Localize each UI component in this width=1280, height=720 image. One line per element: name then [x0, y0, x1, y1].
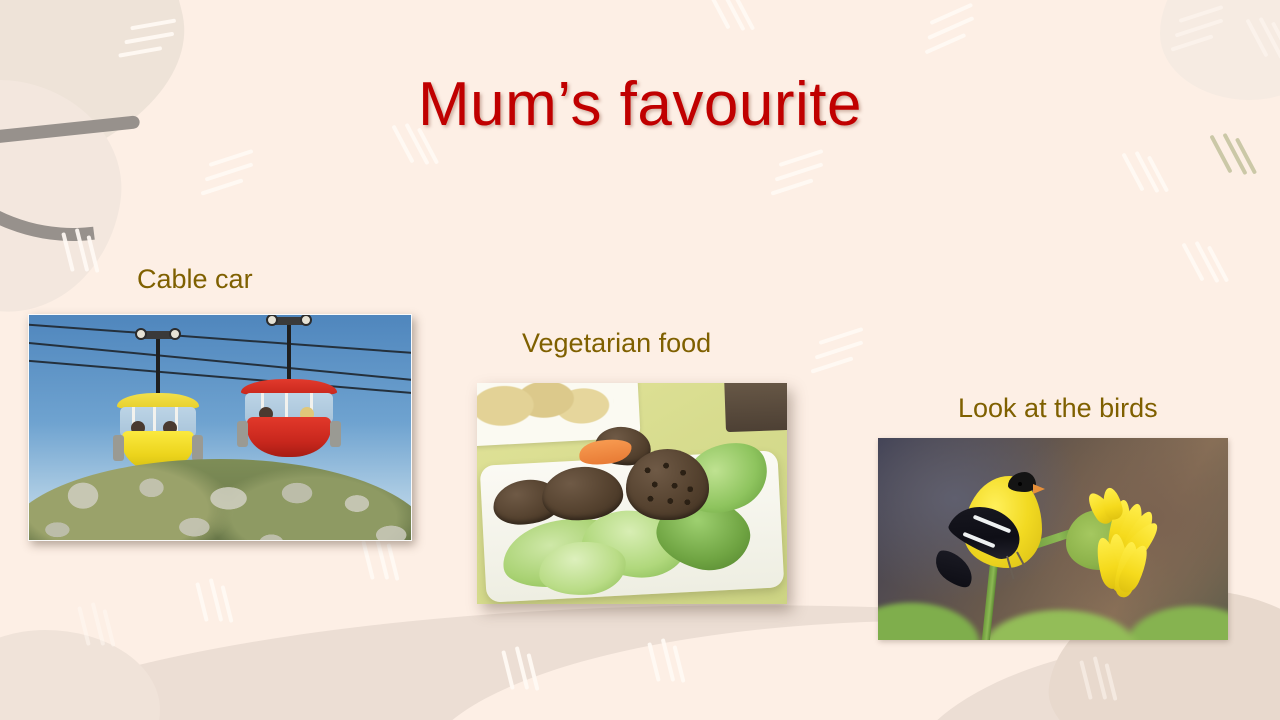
vegetarian-food-scene [477, 383, 787, 604]
hatch-marks-icon [58, 622, 120, 666]
gondola-hanger-arm [141, 331, 175, 339]
hatch-marks-icon [918, 5, 984, 55]
bird-eye [1018, 482, 1022, 486]
hatch-marks-icon [1168, 8, 1230, 52]
gondola-bumper [237, 421, 248, 447]
cable-car-scene [29, 315, 411, 540]
hatch-marks-icon [768, 152, 830, 196]
slide-title: Mum’s favourite [0, 72, 1280, 137]
hatch-marks-icon [115, 14, 183, 66]
foreground-foliage [878, 592, 1228, 640]
bird-head-cap [1008, 472, 1036, 492]
hatch-marks-icon [176, 598, 238, 642]
gondola-hanger-rod [156, 339, 160, 395]
hatch-marks-icon [808, 330, 870, 374]
hatch-marks-icon [378, 140, 440, 184]
gondola-bumper [330, 421, 341, 447]
birds-photo[interactable] [878, 438, 1228, 640]
hatch-marks-icon [628, 658, 690, 702]
cable-car-photo[interactable] [28, 314, 412, 541]
caption-cable-car: Cable car [137, 264, 253, 295]
hatch-marks-icon [482, 666, 544, 710]
beige-wave-band-bottom-right [897, 631, 1280, 720]
gondola-bumper [113, 435, 124, 461]
caption-vegetarian-food: Vegetarian food [522, 328, 711, 359]
gondola-yellow [117, 327, 199, 477]
olive-hatch-marks-icon [1196, 150, 1258, 194]
presentation-slide: Mum’s favourite Cable car [0, 0, 1280, 720]
hatch-marks-icon [42, 248, 104, 292]
gondola-red [241, 315, 337, 475]
gondola-hanger-rod [287, 325, 291, 381]
hatch-marks-icon [342, 556, 404, 600]
bird-beak [1033, 484, 1045, 494]
vegetarian-food-photo[interactable] [477, 383, 787, 604]
gondola-hanger-arm [272, 317, 306, 325]
gondola-bumper [192, 435, 203, 461]
hatch-marks-icon [1168, 258, 1230, 302]
caption-look-at-the-birds: Look at the birds [958, 393, 1158, 424]
background-object [724, 383, 787, 433]
beige-blob-bottom-left [0, 630, 160, 720]
birds-scene [878, 438, 1228, 640]
hatch-marks-icon [1060, 676, 1122, 720]
hatch-marks-icon [1108, 168, 1170, 212]
braised-mushroom-speckled [626, 449, 710, 520]
hatch-marks-icon [694, 6, 756, 50]
hatch-marks-icon [198, 152, 260, 196]
gondola-cabin [247, 417, 332, 457]
